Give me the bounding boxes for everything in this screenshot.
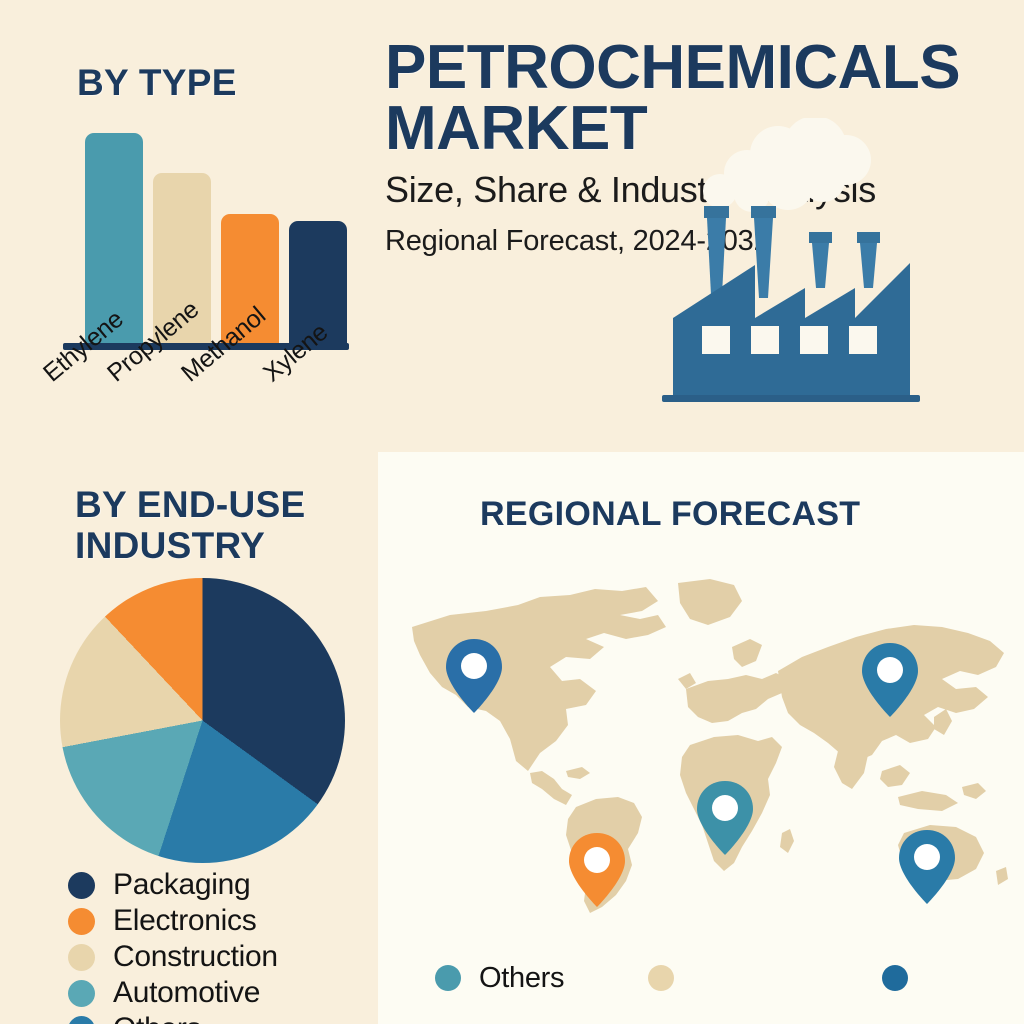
legend-dot-electronics [68,908,95,935]
legend-dot-packaging [68,872,95,899]
legend-item-electronics: Electronics [68,904,368,938]
legend-dot-construction [68,944,95,971]
pie-chart-graphic [60,578,345,863]
legend-label-packaging: Packaging [113,868,250,902]
pie-chart-legend: Packaging Electronics Construction Autom… [68,868,368,1024]
factory-illustration [660,118,960,418]
legend-label-construction: Construction [113,940,278,974]
bar-chart-labels: Ethylene Propylene Methanol Xylene [30,352,360,452]
world-map [390,575,1010,920]
legend-label-automotive: Automotive [113,976,260,1010]
map-pin-australia [899,830,955,904]
legend-label-others: Others [113,1012,201,1024]
legend-item-construction: Construction [68,940,368,974]
pie-chart-by-end-use [60,578,345,863]
map-legend-dot-others [435,965,461,991]
section-heading-by-type: BY TYPE [77,62,237,104]
legend-label-electronics: Electronics [113,904,256,938]
section-heading-by-end-use: BY END-USE INDUSTRY [75,485,375,566]
legend-item-others: Others [68,1012,368,1024]
legend-dot-automotive [68,980,95,1007]
map-pin-south-america [569,833,625,907]
section-heading-regional-forecast: REGIONAL FORECAST [480,495,860,534]
map-legend: Others [435,958,926,998]
smoke-icon [703,118,871,212]
factory-ground [662,395,920,402]
infographic-canvas: PETROCHEMICALS MARKET Size, Share & Indu… [0,0,1024,1024]
map-pin-africa [697,781,753,855]
map-legend-dot-third [882,965,908,991]
legend-dot-others [68,1016,95,1024]
map-legend-label-others: Others [479,962,564,995]
legend-item-automotive: Automotive [68,976,368,1010]
legend-item-packaging: Packaging [68,868,368,902]
map-legend-dot-second [648,965,674,991]
